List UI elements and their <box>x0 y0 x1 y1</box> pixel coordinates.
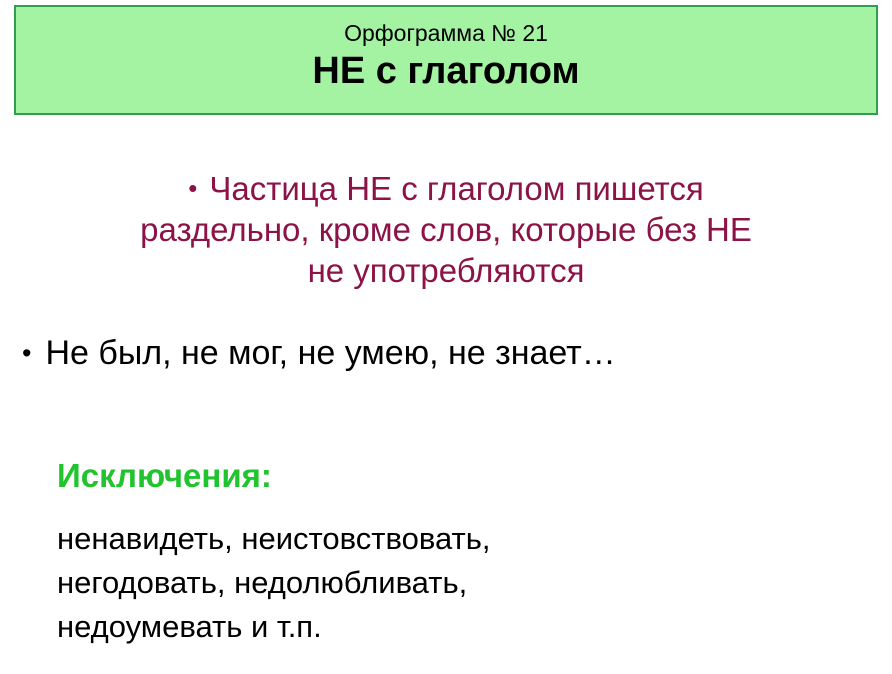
header-banner: Орфограмма № 21 НЕ с глаголом <box>14 5 878 115</box>
example-list-item: • Не был, не мог, не умею, не знает… <box>22 331 882 375</box>
exceptions-line: недоумевать и т.п. <box>57 605 817 649</box>
rule-statement: •Частица НЕ с глаголом пишется раздельно… <box>0 168 892 291</box>
bullet-icon: • <box>188 172 197 205</box>
exceptions-list: ненавидеть, неистовствовать, негодовать,… <box>57 517 817 649</box>
page-title: НЕ с глаголом <box>312 50 579 94</box>
exceptions-heading: Исключения: <box>57 456 272 496</box>
slide-root: Орфограмма № 21 НЕ с глаголом •Частица Н… <box>0 0 892 674</box>
exceptions-line: ненавидеть, неистовствовать, <box>57 517 817 561</box>
slide-body: •Частица НЕ с глаголом пишется раздельно… <box>0 115 892 674</box>
example-text: Не был, не мог, не умею, не знает… <box>45 331 615 375</box>
bullet-icon: • <box>22 331 31 375</box>
exceptions-line: негодовать, недолюбливать, <box>57 561 817 605</box>
rule-line-3: не употребляются <box>308 252 585 289</box>
header-eyebrow: Орфограмма № 21 <box>344 21 548 46</box>
rule-line-1: Частица НЕ с глаголом пишется <box>209 170 703 207</box>
rule-line-2: раздельно, кроме слов, которые без НЕ <box>140 211 752 248</box>
